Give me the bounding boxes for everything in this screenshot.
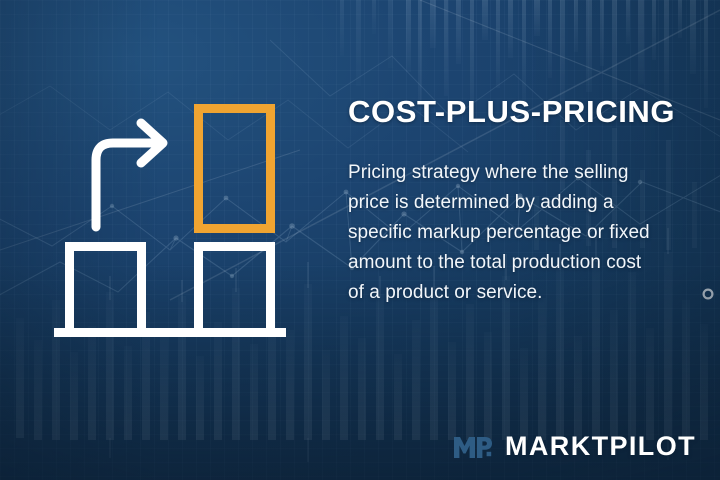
marktpilot-wordmark: MARKTPILOT bbox=[505, 433, 696, 460]
description-line: of a product or service. bbox=[348, 278, 698, 308]
markup-bar-orange bbox=[199, 109, 271, 229]
text-column: COST-PLUS-PRICING Pricing strategy where… bbox=[348, 92, 698, 308]
description-text: Pricing strategy where the selling price… bbox=[348, 158, 698, 308]
mp-monogram-icon bbox=[453, 434, 493, 460]
marktpilot-logo: MARKTPILOT bbox=[453, 433, 696, 460]
base-bar-right bbox=[199, 247, 271, 330]
description-line: Pricing strategy where the selling bbox=[348, 158, 698, 188]
cost-plus-bar-chart-icon bbox=[48, 92, 298, 342]
wordmark-suffix: ILOT bbox=[629, 433, 696, 460]
page-title: COST-PLUS-PRICING bbox=[348, 92, 698, 132]
description-line: specific markup percentage or fixed bbox=[348, 218, 698, 248]
wordmark-prefix: MARKT bbox=[505, 433, 609, 460]
cost-plus-pricing-graphic: COST-PLUS-PRICING Pricing strategy where… bbox=[0, 0, 720, 480]
wordmark-stylized-p: P bbox=[609, 433, 628, 460]
chart-baseline bbox=[54, 328, 286, 337]
base-bar-left bbox=[70, 247, 142, 330]
description-line: price is determined by adding a bbox=[348, 188, 698, 218]
description-line: amount to the total production cost bbox=[348, 248, 698, 278]
